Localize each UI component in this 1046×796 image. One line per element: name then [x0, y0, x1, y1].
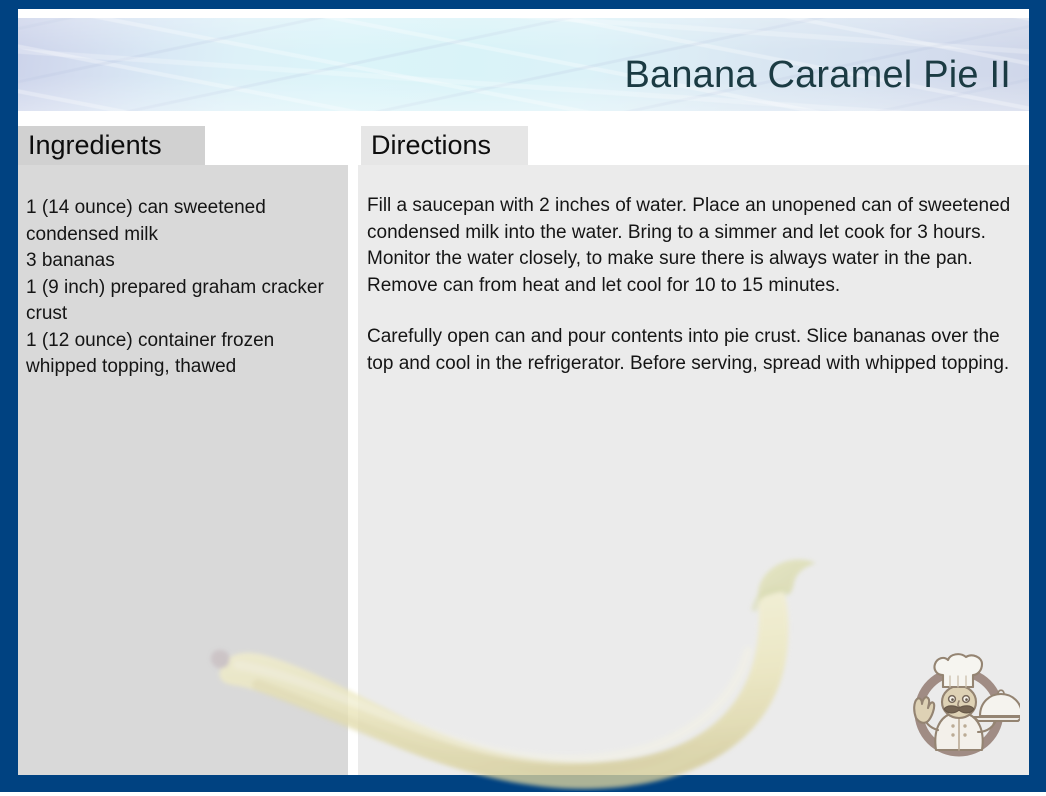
page-title: Banana Caramel Pie II	[624, 56, 1011, 94]
directions-paragraph-1: Fill a saucepan with 2 inches of water. …	[367, 193, 1022, 299]
ingredients-heading-tab: Ingredients	[18, 126, 205, 165]
header-banner: Banana Caramel Pie II	[18, 18, 1029, 111]
directions-heading-tab: Directions	[361, 126, 528, 165]
chef-logo-icon	[898, 646, 1020, 768]
content-panels: 1 (14 ounce) can sweetened condensed mil…	[18, 126, 1029, 775]
ingredients-list: 1 (14 ounce) can sweetened condensed mil…	[26, 195, 336, 381]
ingredients-panel: 1 (14 ounce) can sweetened condensed mil…	[18, 165, 348, 775]
directions-body: Fill a saucepan with 2 inches of water. …	[367, 193, 1022, 377]
directions-paragraph-2: Carefully open can and pour contents int…	[367, 324, 1022, 377]
slide-frame: Banana Caramel Pie II 1 (14 ounce) can s…	[0, 0, 1046, 792]
